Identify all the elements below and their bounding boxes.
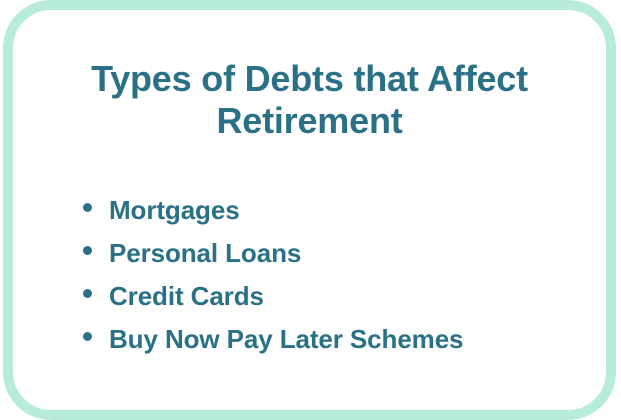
bullet-point-icon bbox=[83, 246, 92, 255]
page-title: Types of Debts that Affect Retirement bbox=[13, 58, 606, 143]
list-item-label: Credit Cards bbox=[109, 281, 264, 312]
info-card: Types of Debts that Affect Retirement Mo… bbox=[3, 0, 616, 420]
bullet-point-icon bbox=[83, 289, 92, 298]
bullet-point-icon bbox=[83, 332, 92, 341]
list-item: Personal Loans bbox=[13, 238, 606, 281]
bullet-point-icon bbox=[83, 203, 92, 212]
list-item-label: Personal Loans bbox=[109, 238, 301, 269]
list-item: Credit Cards bbox=[13, 281, 606, 324]
page-title-line-1: Types of Debts that Affect bbox=[13, 58, 606, 100]
list-item-label: Buy Now Pay Later Schemes bbox=[109, 324, 463, 355]
list-item: Buy Now Pay Later Schemes bbox=[13, 324, 606, 367]
list-item: Mortgages bbox=[13, 195, 606, 238]
list-item-label: Mortgages bbox=[109, 195, 240, 226]
debt-types-list: Mortgages Personal Loans Credit Cards Bu… bbox=[13, 195, 606, 367]
page-title-line-2: Retirement bbox=[13, 100, 606, 142]
